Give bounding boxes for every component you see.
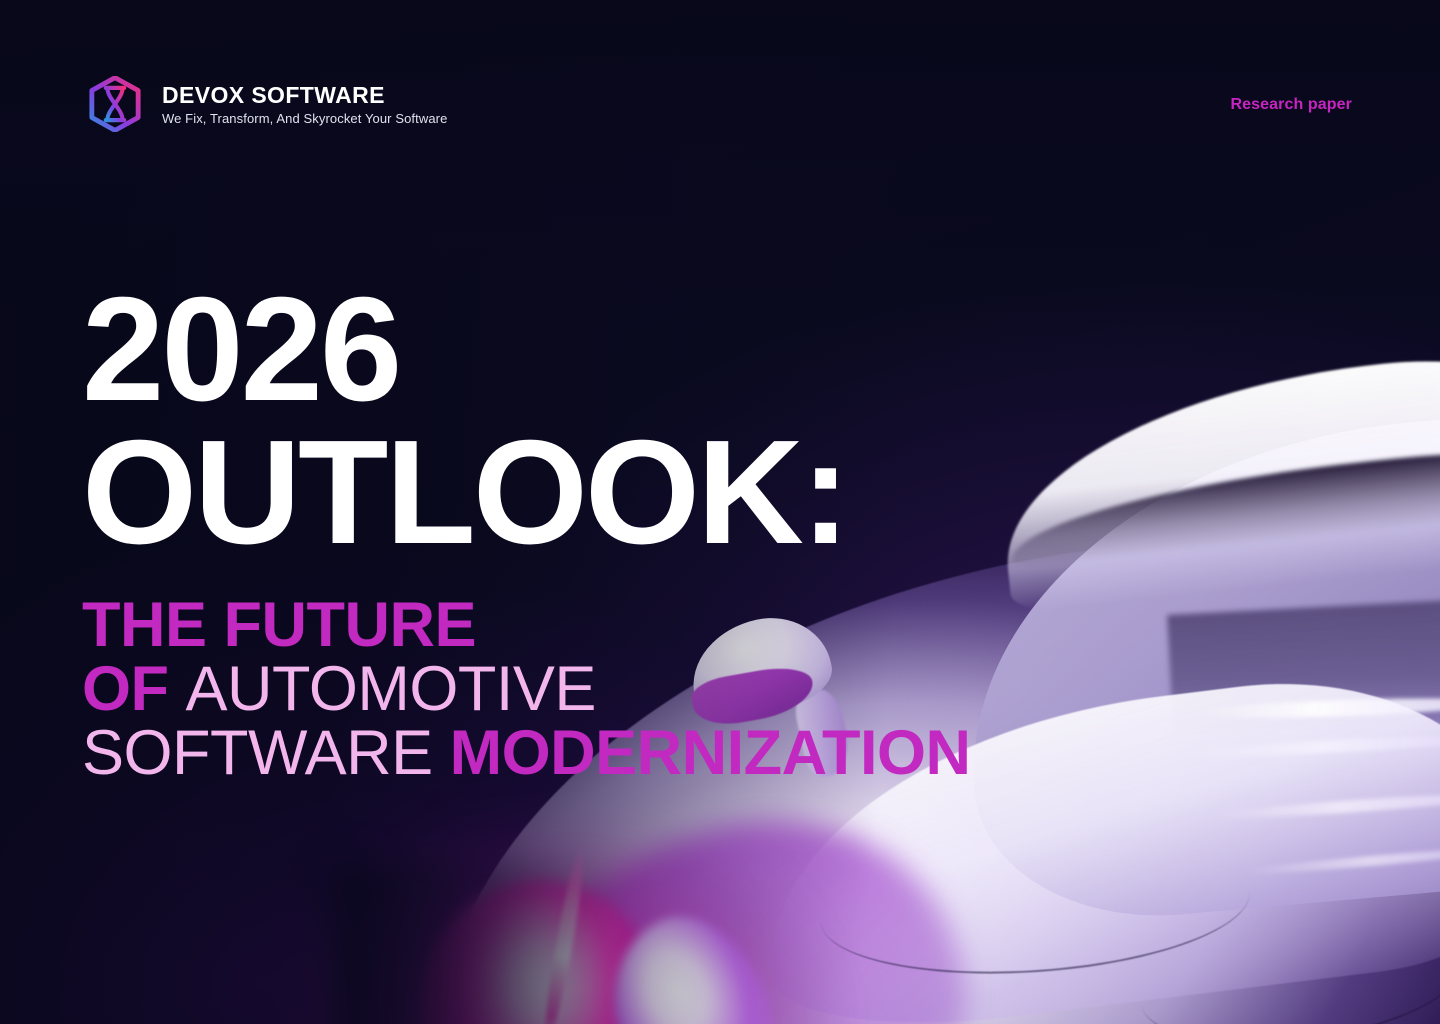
subtitle-line-2: OF AUTOMOTIVE (82, 657, 1342, 721)
subtitle-of: OF (82, 654, 186, 724)
research-paper-label: Research paper (1231, 96, 1352, 114)
page-header: DEVOX SOFTWARE We Fix, Transform, And Sk… (0, 76, 1440, 132)
cover-title-block: 2026 OUTLOOK: THE FUTURE OF AUTOMOTIVE S… (82, 286, 1342, 785)
cover-subtitle: THE FUTURE OF AUTOMOTIVE SOFTWARE MODERN… (82, 593, 1342, 786)
brand-text-block: DEVOX SOFTWARE We Fix, Transform, And Sk… (162, 84, 447, 125)
brand-name: DEVOX SOFTWARE (162, 84, 447, 107)
subtitle-modernization: MODERNIZATION (450, 718, 971, 788)
brand-tagline: We Fix, Transform, And Skyrocket Your So… (162, 112, 447, 125)
brand-lockup[interactable]: DEVOX SOFTWARE We Fix, Transform, And Sk… (88, 76, 447, 132)
subtitle-the-future: THE FUTURE (82, 590, 476, 660)
hexagon-helix-logo-icon (88, 76, 142, 132)
subtitle-line-1: THE FUTURE (82, 593, 1342, 657)
subtitle-automotive: AUTOMOTIVE (186, 654, 596, 724)
cover-page: DEVOX SOFTWARE We Fix, Transform, And Sk… (0, 0, 1440, 1024)
subtitle-line-3: SOFTWARE MODERNIZATION (82, 721, 1342, 785)
title-outlook: OUTLOOK: (82, 429, 1342, 556)
title-year: 2026 (82, 286, 1342, 413)
subtitle-software: SOFTWARE (82, 718, 450, 788)
